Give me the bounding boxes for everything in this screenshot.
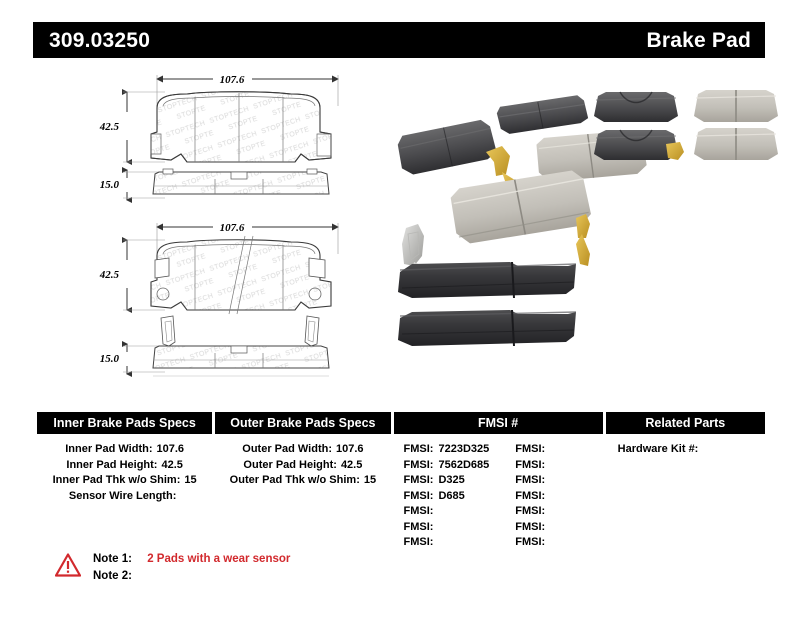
fmsi-label: FMSI: bbox=[515, 536, 545, 548]
spec-value: 15 bbox=[180, 473, 196, 489]
fmsi-label: FMSI: bbox=[515, 474, 545, 486]
wear-sensor-clip-grid bbox=[666, 142, 684, 160]
product-photos bbox=[390, 72, 780, 382]
fmsi-row: FMSI:D325 bbox=[404, 473, 490, 489]
fmsi-label: FMSI: bbox=[515, 459, 545, 471]
note-row-2: Note 2: bbox=[93, 568, 290, 585]
outer-width-dimension: 107.6 bbox=[220, 222, 245, 234]
fmsi-label: FMSI: bbox=[404, 459, 434, 471]
spec-value: 15 bbox=[360, 473, 376, 489]
fmsi-row: FMSI: bbox=[515, 458, 550, 474]
cell-inner-specs: Inner Pad Width: 107.6 Inner Pad Height:… bbox=[37, 434, 212, 504]
table-body-row: Inner Pad Width: 107.6 Inner Pad Height:… bbox=[37, 434, 765, 551]
fmsi-row: FMSI: bbox=[404, 520, 490, 536]
fmsi-row: FMSI: bbox=[515, 535, 550, 551]
fmsi-row: FMSI:7223D325 bbox=[404, 442, 490, 458]
fmsi-row: FMSI:D685 bbox=[404, 489, 490, 505]
spec-row: Outer Pad Thk w/o Shim: 15 bbox=[215, 473, 390, 489]
product-header-bar: 309.03250 Brake Pad bbox=[33, 22, 765, 58]
fmsi-label: FMSI: bbox=[515, 505, 545, 517]
product-type-label: Brake Pad bbox=[646, 30, 751, 51]
fmsi-label: FMSI: bbox=[515, 443, 545, 455]
spec-label: Outer Pad Width: bbox=[242, 442, 332, 458]
column-header-outer-specs: Outer Brake Pads Specs bbox=[215, 412, 390, 434]
fmsi-value bbox=[545, 459, 550, 471]
spec-value: 42.5 bbox=[157, 458, 182, 474]
spec-label: Inner Pad Thk w/o Shim: bbox=[53, 473, 181, 489]
cell-related-parts: Hardware Kit #: bbox=[606, 434, 765, 458]
spec-row: Inner Pad Height: 42.5 bbox=[37, 458, 212, 474]
spec-label: Sensor Wire Length: bbox=[69, 489, 176, 505]
fmsi-label: FMSI: bbox=[515, 490, 545, 502]
fmsi-row: FMSI: bbox=[515, 504, 550, 520]
specs-table: Inner Brake Pads Specs Outer Brake Pads … bbox=[37, 412, 765, 551]
note-row-1: Note 1: 2 Pads with a wear sensor bbox=[93, 551, 290, 568]
spec-row: Inner Pad Width: 107.6 bbox=[37, 442, 212, 458]
note-label: Note 2: bbox=[93, 568, 141, 585]
spec-label: Inner Pad Width: bbox=[65, 442, 152, 458]
fmsi-row: FMSI: bbox=[515, 442, 550, 458]
fmsi-column-left: FMSI:7223D325 FMSI:7562D685 FMSI:D325 FM… bbox=[404, 442, 490, 551]
spec-row: Outer Pad Width: 107.6 bbox=[215, 442, 390, 458]
fmsi-row: FMSI: bbox=[515, 520, 550, 536]
inner-thickness-dimension: 15.0 bbox=[100, 179, 120, 191]
photo-group-edge bbox=[398, 224, 576, 346]
fmsi-row: FMSI: bbox=[515, 473, 550, 489]
outer-height-dimension: 42.5 bbox=[99, 269, 120, 281]
outer-pad-drawing: 107.6 42.5 15.0 bbox=[99, 222, 338, 376]
note-value: 2 Pads with a wear sensor bbox=[144, 553, 290, 565]
spec-label: Outer Pad Thk w/o Shim: bbox=[230, 473, 360, 489]
spec-row: Outer Pad Height: 42.5 bbox=[215, 458, 390, 474]
part-number: 309.03250 bbox=[49, 30, 150, 51]
column-header-related-parts: Related Parts bbox=[606, 412, 765, 434]
fmsi-row: FMSI: bbox=[515, 489, 550, 505]
photo-group-grid bbox=[594, 90, 778, 160]
warning-triangle-icon bbox=[55, 553, 81, 577]
inner-width-dimension: 107.6 bbox=[220, 74, 245, 86]
fmsi-value bbox=[545, 443, 550, 455]
fmsi-value bbox=[433, 536, 438, 548]
column-header-inner-specs: Inner Brake Pads Specs bbox=[37, 412, 212, 434]
fmsi-label: FMSI: bbox=[404, 443, 434, 455]
fmsi-row: FMSI:7562D685 bbox=[404, 458, 490, 474]
fmsi-row: FMSI: bbox=[404, 535, 490, 551]
brake-pad-photographs bbox=[390, 72, 780, 382]
note-label: Note 1: bbox=[93, 551, 141, 568]
fmsi-label: FMSI: bbox=[404, 490, 434, 502]
spec-value bbox=[176, 489, 180, 505]
fmsi-label: FMSI: bbox=[404, 521, 434, 533]
fmsi-value: D685 bbox=[433, 490, 464, 502]
fmsi-value bbox=[545, 490, 550, 502]
fmsi-value bbox=[545, 505, 550, 517]
fmsi-label: FMSI: bbox=[515, 521, 545, 533]
cell-fmsi: FMSI:7223D325 FMSI:7562D685 FMSI:D325 FM… bbox=[394, 434, 603, 551]
fmsi-row: FMSI: bbox=[404, 504, 490, 520]
fmsi-label: FMSI: bbox=[404, 474, 434, 486]
spec-value: 107.6 bbox=[332, 442, 364, 458]
fmsi-label: FMSI: bbox=[404, 505, 434, 517]
wear-sensor-clip-bottom bbox=[576, 214, 590, 266]
outer-thickness-dimension: 15.0 bbox=[100, 353, 120, 365]
spec-value: 107.6 bbox=[153, 442, 185, 458]
column-header-fmsi: FMSI # bbox=[394, 412, 603, 434]
cell-outer-specs: Outer Pad Width: 107.6 Outer Pad Height:… bbox=[215, 434, 390, 489]
spec-row: Sensor Wire Length: bbox=[37, 489, 212, 505]
spec-label: Inner Pad Height: bbox=[66, 458, 157, 474]
hardware-kit-label: Hardware Kit #: bbox=[606, 442, 765, 458]
fmsi-label: FMSI: bbox=[404, 536, 434, 548]
note-value bbox=[141, 570, 144, 582]
table-header-row: Inner Brake Pads Specs Outer Brake Pads … bbox=[37, 412, 765, 434]
spec-label: Outer Pad Height: bbox=[243, 458, 337, 474]
inner-pad-drawing: 107.6 42.5 15.0 bbox=[99, 74, 338, 200]
spec-row: Inner Pad Thk w/o Shim: 15 bbox=[37, 473, 212, 489]
fmsi-value bbox=[433, 505, 438, 517]
fmsi-value: D325 bbox=[433, 474, 464, 486]
fmsi-value: 7562D685 bbox=[433, 459, 489, 471]
fmsi-value bbox=[545, 536, 550, 548]
spec-value: 42.5 bbox=[337, 458, 362, 474]
notes-section: Note 1: 2 Pads with a wear sensor Note 2… bbox=[55, 551, 290, 585]
fmsi-value: 7223D325 bbox=[433, 443, 489, 455]
fmsi-value bbox=[433, 521, 438, 533]
technical-drawings: STOPTECH STOPTECH 107.6 42.5 bbox=[95, 66, 385, 386]
fmsi-value bbox=[545, 521, 550, 533]
inner-height-dimension: 42.5 bbox=[99, 121, 120, 133]
fmsi-column-right: FMSI: FMSI: FMSI: FMSI: FMSI: FMSI: FMSI… bbox=[515, 442, 550, 551]
brake-pad-dimension-drawings: STOPTECH STOPTECH 107.6 42.5 bbox=[95, 66, 385, 386]
fmsi-value bbox=[545, 474, 550, 486]
